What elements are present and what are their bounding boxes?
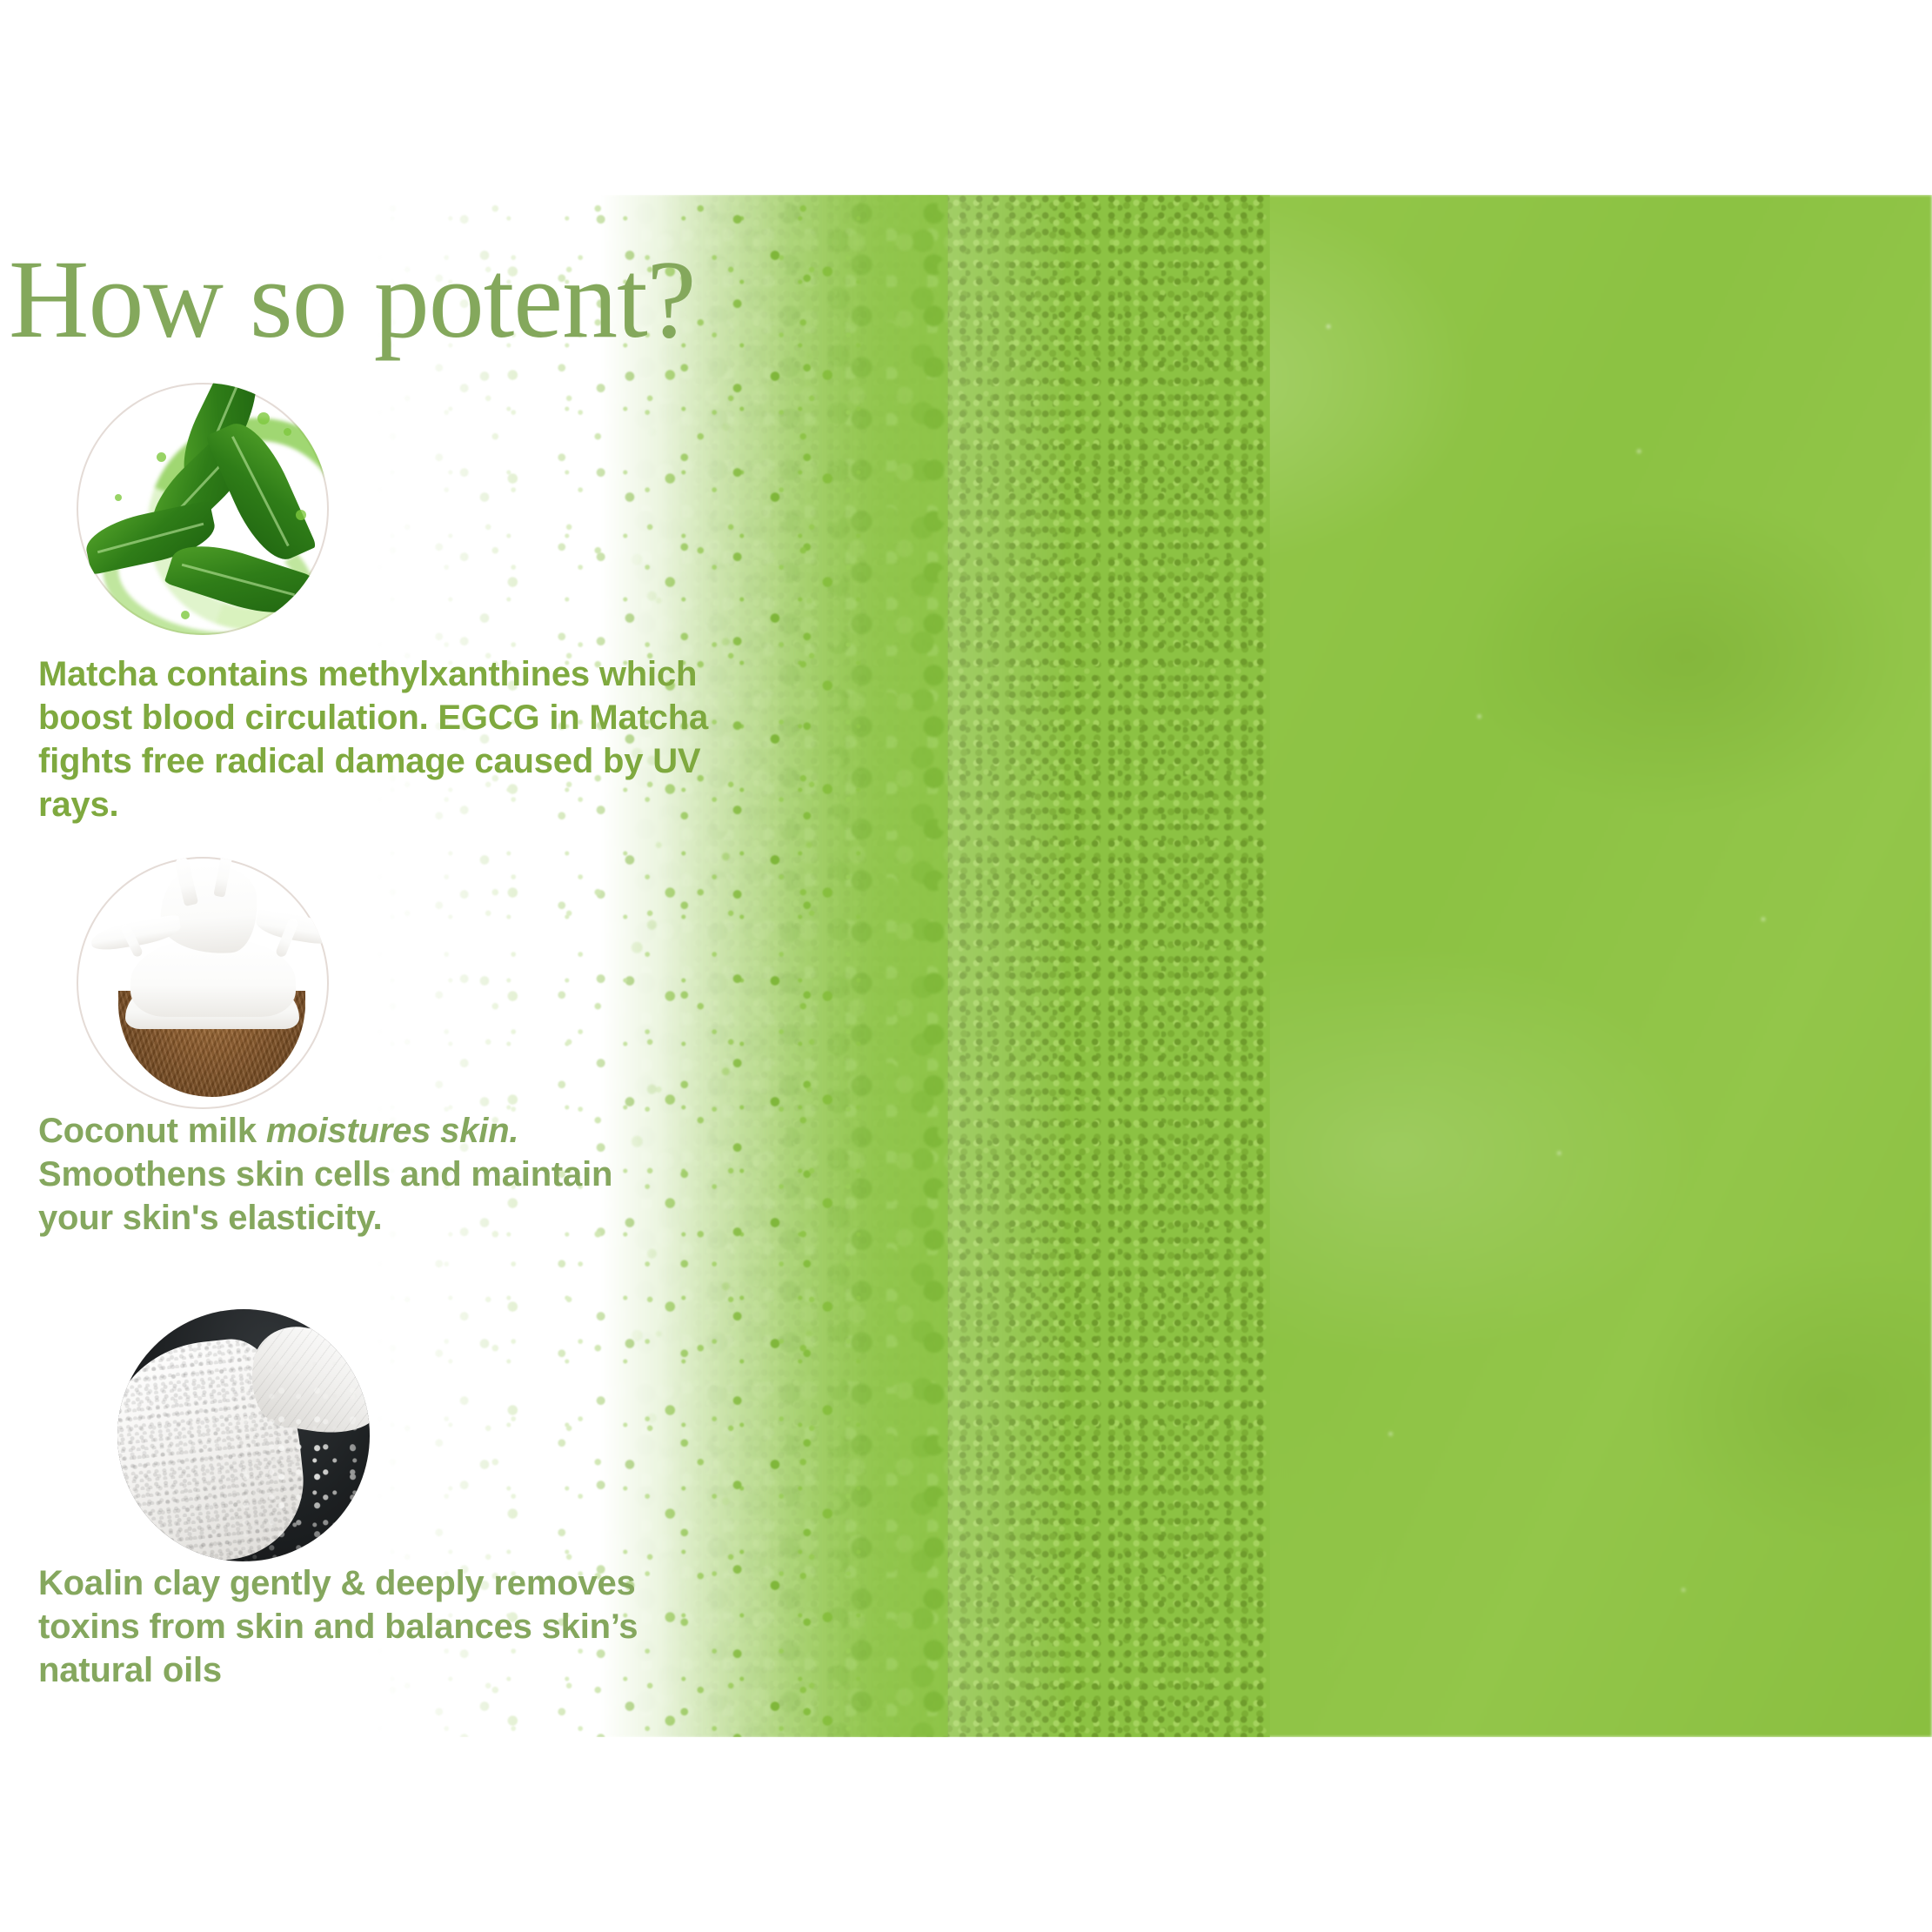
- caption-line: your skin's elasticity.: [38, 1196, 873, 1240]
- ingredient-caption-matcha: Matcha contains methylxanthines which bo…: [38, 652, 873, 826]
- caption-line: fights free radical damage caused by UV: [38, 739, 873, 783]
- caption-line: Smoothens skin cells and maintain: [38, 1153, 873, 1196]
- matcha-tea-leaves-icon: [77, 383, 329, 635]
- splash-droplet: [284, 428, 291, 436]
- splash-droplet: [296, 510, 306, 520]
- caption-lead: Coconut milk: [38, 1112, 266, 1150]
- caption-line: boost blood circulation. EGCG in Matcha: [38, 696, 873, 739]
- splash-droplet: [115, 494, 122, 501]
- ingredient-block-coconut: [77, 857, 329, 1109]
- kaolin-clay-powder-icon: [117, 1309, 370, 1561]
- caption-line: Coconut milk moistures skin.: [38, 1109, 873, 1153]
- caption-line: toxins from skin and balances skin’s: [38, 1605, 873, 1648]
- ingredient-caption-coconut: Coconut milk moistures skin. Smoothens s…: [38, 1109, 873, 1240]
- ingredient-block-kaolin-clay: [117, 1309, 370, 1561]
- caption-line: Koalin clay gently & deeply removes: [38, 1561, 873, 1605]
- caption-line: rays.: [38, 783, 873, 826]
- splash-droplet: [181, 611, 190, 619]
- ingredient-block-matcha: [77, 383, 329, 635]
- coconut-milk-splash-icon: [77, 857, 329, 1109]
- caption-line: Matcha contains methylxanthines which: [38, 652, 873, 696]
- page-title: How so potent?: [9, 244, 695, 355]
- splash-droplet: [257, 412, 270, 425]
- ingredient-caption-kaolin-clay: Koalin clay gently & deeply removes toxi…: [38, 1561, 873, 1692]
- splash-droplet: [157, 452, 166, 462]
- caption-emphasis: moistures skin.: [266, 1112, 518, 1150]
- matcha-stray-flecks: [487, 195, 852, 1737]
- infographic-canvas: How so potent? Matcha contains methylxan…: [0, 0, 1932, 1932]
- caption-line: natural oils: [38, 1648, 873, 1692]
- clay-specks: [117, 1309, 370, 1561]
